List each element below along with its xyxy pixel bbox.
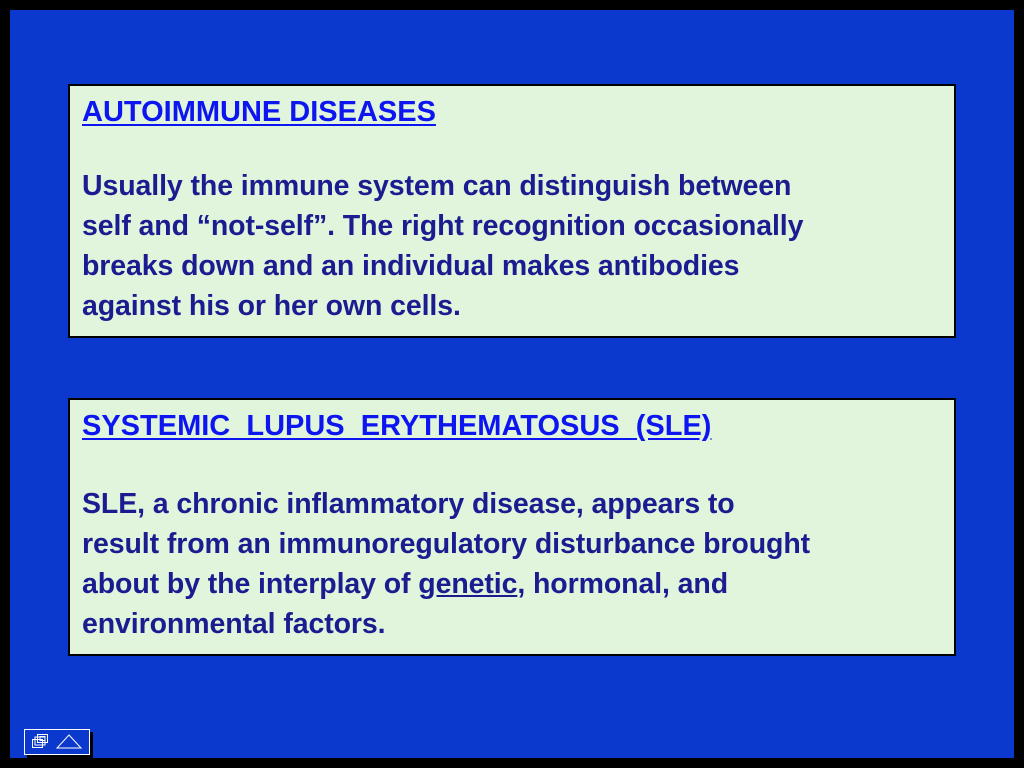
- body-line-tail: , hormonal, and: [517, 568, 728, 600]
- triangle-icon[interactable]: [55, 733, 83, 751]
- body-systemic-lupus-erythematosus: SLE, a chronic inflammatory disease, app…: [82, 485, 942, 645]
- body-line: breaks down and an individual makes anti…: [82, 247, 942, 287]
- body-line: result from an immunoregulatory disturba…: [82, 525, 942, 565]
- body-autoimmune-diseases: Usually the immune system can distinguis…: [82, 167, 942, 327]
- body-line: self and “not-self”. The right recogniti…: [82, 207, 942, 247]
- body-line-with-emphasis: about by the interplay of genetic, hormo…: [82, 565, 942, 605]
- slide-canvas: AUTOIMMUNE DISEASES Usually the immune s…: [10, 10, 1014, 758]
- emphasis-word-genetic: genetic: [418, 568, 517, 600]
- slide-root: AUTOIMMUNE DISEASES Usually the immune s…: [0, 0, 1024, 768]
- slideshow-nav-widget[interactable]: [24, 729, 90, 755]
- content-box-autoimmune-diseases: AUTOIMMUNE DISEASES Usually the immune s…: [68, 84, 956, 338]
- body-line: environmental factors.: [82, 605, 942, 645]
- body-line-prefix: about by the interplay of: [82, 568, 418, 600]
- body-line: Usually the immune system can distinguis…: [82, 167, 942, 207]
- heading-systemic-lupus-erythematosus: SYSTEMIC LUPUS ERYTHEMATOSUS (SLE): [82, 410, 942, 443]
- body-line: against his or her own cells.: [82, 287, 942, 327]
- body-line: SLE, a chronic inflammatory disease, app…: [82, 485, 942, 525]
- content-box-systemic-lupus-erythematosus: SYSTEMIC LUPUS ERYTHEMATOSUS (SLE) SLE, …: [68, 398, 956, 656]
- heading-autoimmune-diseases: AUTOIMMUNE DISEASES: [82, 96, 942, 129]
- slides-stack-icon[interactable]: [31, 733, 51, 751]
